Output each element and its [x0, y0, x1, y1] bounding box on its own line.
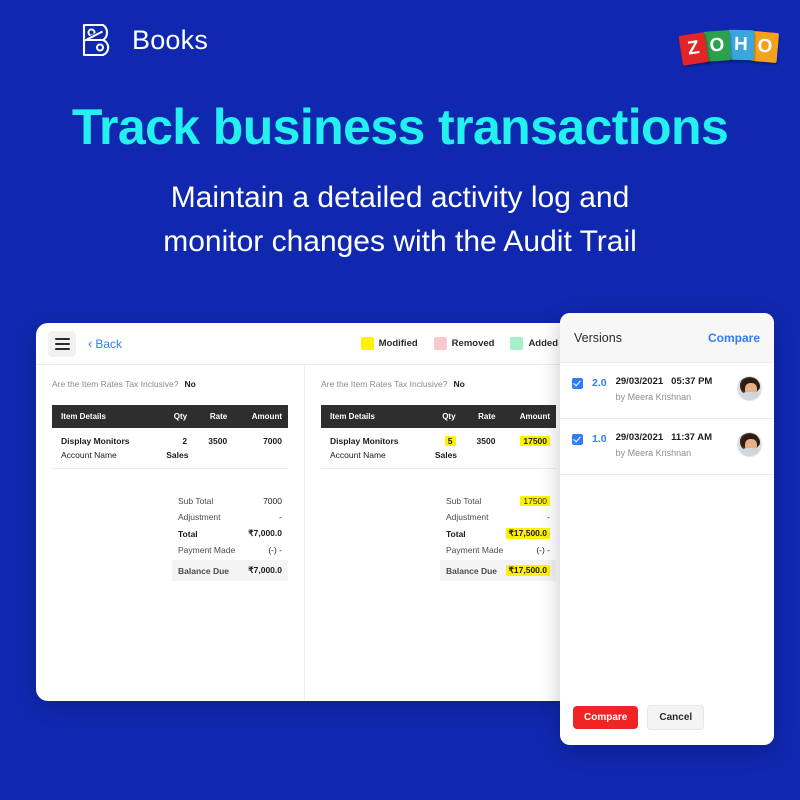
- total-value: 7000: [263, 496, 282, 506]
- legend-label-modified: Modified: [379, 338, 418, 349]
- total-label: Sub Total: [178, 496, 213, 506]
- version-time: 11:37 AM: [671, 432, 712, 443]
- col-rate-right: Rate: [462, 405, 502, 428]
- legend-label-added: Added: [528, 338, 558, 349]
- total-row-balance-due-left: Balance Due ₹7,000.0: [172, 560, 288, 581]
- versions-list: 2.0 29/03/2021 05:37 PM by Meera Krishna…: [560, 363, 774, 689]
- version-timestamp-2-0: 29/03/2021 05:37 PM: [616, 376, 728, 387]
- line-items-table-right: Item Details Qty Rate Amount Display Mon…: [321, 405, 556, 469]
- col-qty-left: Qty: [160, 405, 193, 428]
- total-row-adjustment-left: Adjustment -: [172, 509, 288, 525]
- total-row-subtotal-left: Sub Total 7000: [172, 493, 288, 509]
- zoho-books-logo-icon: [78, 20, 118, 60]
- version-timestamp-1-0: 29/03/2021 11:37 AM: [616, 432, 728, 443]
- cell-account-value-left: Sales: [160, 448, 288, 469]
- back-button[interactable]: ‹ Back: [88, 337, 122, 351]
- cell-qty-left: 2: [160, 428, 193, 448]
- version-author: by Meera Krishnan: [616, 392, 692, 402]
- version-date: 29/03/2021: [616, 376, 664, 387]
- app-topbar: ‹ Back Modified Removed Added: [36, 323, 572, 365]
- total-label: Balance Due: [178, 566, 229, 576]
- col-rate-left: Rate: [193, 405, 233, 428]
- total-row-balance-due-right: Balance Due ₹17,500.0: [440, 560, 556, 581]
- col-item-details-left: Item Details: [52, 405, 160, 428]
- total-value: (-) -: [536, 545, 550, 555]
- cell-rate-right: 3500: [462, 428, 502, 448]
- zoho-tile-z: Z: [678, 32, 708, 66]
- cancel-button[interactable]: Cancel: [647, 705, 704, 730]
- change-legend: Modified Removed Added: [361, 337, 558, 350]
- versions-panel-header: Versions Compare: [560, 313, 774, 363]
- total-label: Total: [178, 529, 198, 539]
- version-author: by Meera Krishnan: [616, 448, 692, 458]
- list-item[interactable]: 1.0 29/03/2021 11:37 AM by Meera Krishna…: [560, 419, 774, 475]
- versions-panel-footer: Compare Cancel: [560, 689, 774, 745]
- total-row-adjustment-right: Adjustment -: [440, 509, 556, 525]
- total-label: Payment Made: [446, 545, 503, 555]
- page-subtitle-line1: Maintain a detailed activity log and: [0, 176, 800, 220]
- promo-canvas: Books Z O H O Track business transaction…: [0, 0, 800, 800]
- total-label: Sub Total: [446, 496, 481, 506]
- version-date: 29/03/2021: [616, 432, 664, 443]
- cell-qty-right: 5: [429, 428, 462, 448]
- version-meta-1-0: 29/03/2021 11:37 AM by Meera Krishnan: [616, 432, 728, 461]
- version-meta-2-0: 29/03/2021 05:37 PM by Meera Krishnan: [616, 376, 728, 405]
- table-row: Display Monitors 5 3500 17500: [321, 428, 556, 448]
- version-number-2-0: 2.0: [592, 377, 607, 389]
- total-label: Adjustment: [178, 512, 221, 522]
- total-value: 17500: [520, 496, 550, 506]
- zoho-tile-h: H: [728, 30, 755, 60]
- table-row: Display Monitors 2 3500 7000: [52, 428, 288, 448]
- tax-inclusive-value-right: No: [453, 379, 464, 389]
- total-row-total-left: Total ₹7,000.0: [172, 525, 288, 542]
- highlight-qty: 5: [445, 436, 456, 446]
- legend-swatch-modified: [361, 337, 374, 350]
- cell-amount-right: 17500: [501, 428, 556, 448]
- avatar: [737, 432, 762, 457]
- total-value: ₹7,000.0: [248, 565, 282, 576]
- legend-item-modified: Modified: [361, 337, 418, 350]
- total-label: Payment Made: [178, 545, 235, 555]
- total-label: Total: [446, 529, 466, 539]
- total-label: Balance Due: [446, 566, 497, 576]
- cell-account-value-right: Sales: [429, 448, 556, 469]
- legend-label-removed: Removed: [452, 338, 495, 349]
- cell-amount-left: 7000: [233, 428, 288, 448]
- version-panels: Are the Item Rates Tax Inclusive?No Item…: [36, 365, 572, 701]
- versions-panel: Versions Compare 2.0 29/03/2021 05:37 PM…: [560, 313, 774, 745]
- total-label: Adjustment: [446, 512, 489, 522]
- table-header-row: Item Details Qty Rate Amount: [321, 405, 556, 428]
- cell-item-name-right: Display Monitors: [321, 428, 429, 448]
- version-checkbox-1-0[interactable]: [572, 434, 583, 445]
- cell-rate-left: 3500: [193, 428, 233, 448]
- panel-version-old: Are the Item Rates Tax Inclusive?No Item…: [36, 365, 304, 701]
- col-qty-right: Qty: [429, 405, 462, 428]
- total-row-total-right: Total ₹17,500.0: [440, 525, 556, 542]
- panel-version-new: Are the Item Rates Tax Inclusive?No Item…: [304, 365, 572, 701]
- legend-swatch-added: [510, 337, 523, 350]
- highlight-amount: 17500: [520, 436, 550, 446]
- cell-item-name-left: Display Monitors: [52, 428, 160, 448]
- zoho-tile-o2: O: [751, 31, 780, 63]
- totals-right: Sub Total 17500 Adjustment - Total ₹17,5…: [440, 493, 556, 581]
- page-title: Track business transactions: [0, 98, 800, 156]
- total-value: (-) -: [268, 545, 282, 555]
- versions-title: Versions: [574, 331, 622, 345]
- compare-link[interactable]: Compare: [708, 331, 760, 345]
- version-checkbox-2-0[interactable]: [572, 378, 583, 389]
- version-time: 05:37 PM: [671, 376, 712, 387]
- total-value: ₹17,500.0: [506, 528, 551, 539]
- col-amount-left: Amount: [233, 405, 288, 428]
- page-subtitle: Maintain a detailed activity log and mon…: [0, 176, 800, 263]
- total-row-payment-made-right: Payment Made (-) -: [440, 542, 556, 558]
- audit-trail-comparison-card: ‹ Back Modified Removed Added: [36, 323, 572, 701]
- back-button-label: Back: [95, 337, 122, 351]
- total-value: -: [279, 512, 282, 522]
- col-item-details-right: Item Details: [321, 405, 429, 428]
- legend-item-added: Added: [510, 337, 558, 350]
- col-amount-right: Amount: [501, 405, 556, 428]
- totals-left: Sub Total 7000 Adjustment - Total ₹7,000…: [172, 493, 288, 581]
- total-value: ₹7,000.0: [248, 528, 282, 539]
- total-value: -: [547, 512, 550, 522]
- total-value: ₹17,500.0: [506, 565, 551, 576]
- tax-inclusive-label-right: Are the Item Rates Tax Inclusive?: [321, 379, 447, 389]
- compare-button[interactable]: Compare: [573, 706, 638, 729]
- table-row-account-right: Account Name Sales: [321, 448, 556, 469]
- avatar: [737, 376, 762, 401]
- total-row-payment-made-left: Payment Made (-) -: [172, 542, 288, 558]
- legend-swatch-removed: [434, 337, 447, 350]
- table-header-row: Item Details Qty Rate Amount: [52, 405, 288, 428]
- brand-name: Books: [132, 25, 208, 56]
- zoho-corporate-logo-icon: Z O H O: [680, 16, 778, 60]
- table-row-account-left: Account Name Sales: [52, 448, 288, 469]
- hamburger-icon[interactable]: [48, 331, 76, 357]
- brand: Books: [78, 20, 208, 60]
- tax-inclusive-row-right: Are the Item Rates Tax Inclusive?No: [321, 379, 556, 389]
- page-subtitle-line2: monitor changes with the Audit Trail: [0, 220, 800, 264]
- tax-inclusive-label-left: Are the Item Rates Tax Inclusive?: [52, 379, 178, 389]
- cell-account-label-left: Account Name: [52, 448, 160, 469]
- cell-account-label-right: Account Name: [321, 448, 429, 469]
- list-item[interactable]: 2.0 29/03/2021 05:37 PM by Meera Krishna…: [560, 363, 774, 419]
- tax-inclusive-value-left: No: [184, 379, 195, 389]
- total-row-subtotal-right: Sub Total 17500: [440, 493, 556, 509]
- version-number-1-0: 1.0: [592, 433, 607, 445]
- tax-inclusive-row-left: Are the Item Rates Tax Inclusive?No: [52, 379, 288, 389]
- line-items-table-left: Item Details Qty Rate Amount Display Mon…: [52, 405, 288, 469]
- legend-item-removed: Removed: [434, 337, 495, 350]
- chevron-left-icon: ‹: [88, 337, 92, 350]
